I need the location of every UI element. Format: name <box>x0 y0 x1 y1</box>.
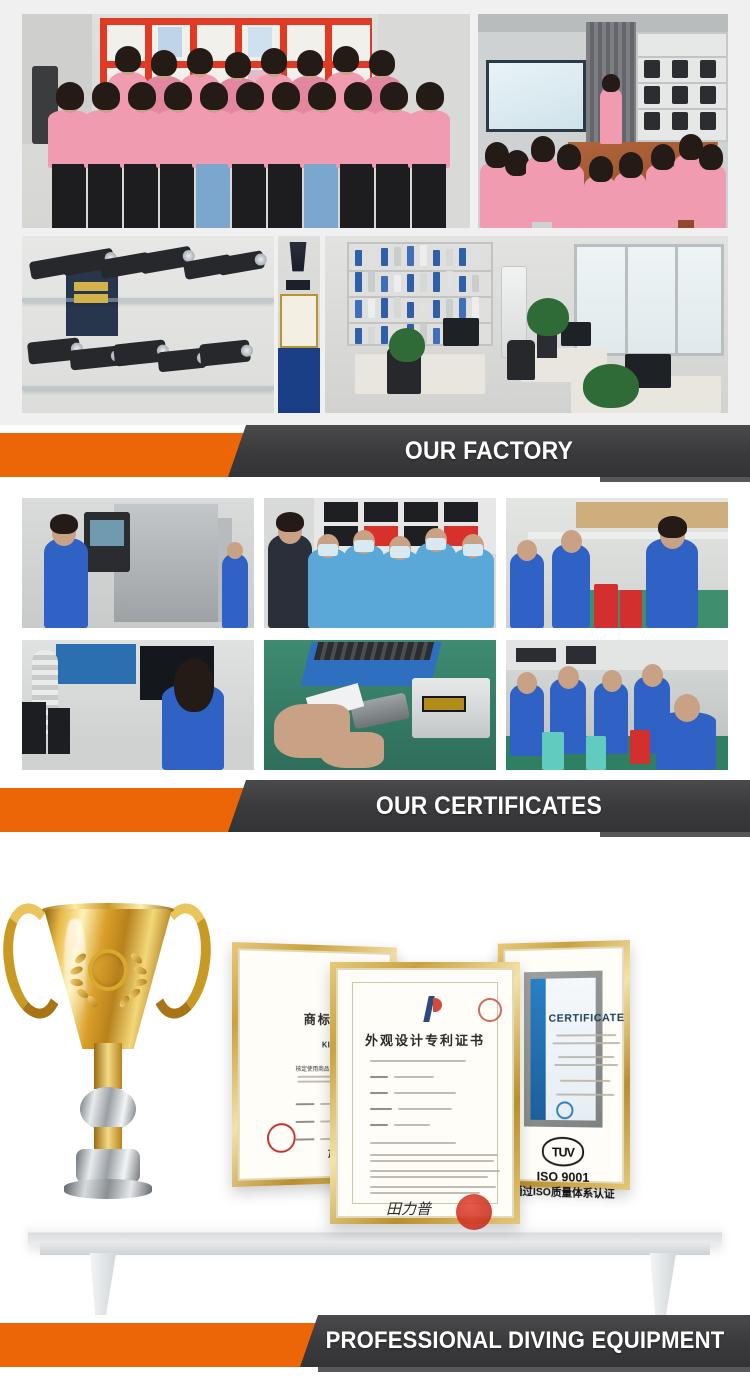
office-workspace-photo: Open plan office with staff at computers… <box>325 236 728 413</box>
banner-our-factory: OUR FACTORY <box>0 425 750 485</box>
gold-trophy <box>2 857 212 1257</box>
product-display-photo: Glass display shelves with black diving … <box>22 236 274 413</box>
laser-marking-photo: Operator running laser marking station <box>22 640 254 770</box>
banner-dark-shadow <box>600 477 750 482</box>
trophy-base-upper <box>76 1149 140 1183</box>
iso-certificate-word: CERTIFICATE <box>549 1012 597 1024</box>
cnc-machining-photo: Worker operating CNC machining centre <box>22 498 254 628</box>
company-intro-section: Company staff group photo in pink polo s… <box>0 0 750 425</box>
banner-professional-diving-equipment: PROFESSIONAL DIVING EQUIPMENT <box>0 1315 750 1375</box>
trophy-stem <box>94 1043 122 1089</box>
banner-title: OUR CERTIFICATES <box>249 780 729 832</box>
workshop-team-photo: Production team in blue coveralls and ma… <box>264 498 496 628</box>
trophy-base-lower <box>64 1179 152 1199</box>
banner-title: OUR FACTORY <box>249 425 729 477</box>
factory-gallery-section: Worker operating CNC machining centre <box>0 485 750 780</box>
patent-certificate-title: 外观设计专利证书 <box>340 1030 510 1049</box>
iso-subtitle-label: 通过ISO质量体系认证 <box>507 1183 620 1202</box>
banner-orange-bar <box>0 1323 322 1367</box>
team-group-photo: Company staff group photo in pink polo s… <box>22 14 470 228</box>
assembly-line-photo: Workers assembling products on the produ… <box>506 498 728 628</box>
shelf-bracket-left <box>90 1253 116 1315</box>
trophy-knob <box>80 1087 136 1131</box>
shelf-bracket-right <box>650 1253 676 1315</box>
design-patent-certificate: 外观设计专利证书 田力普 <box>330 962 520 1224</box>
waterproof-testing-photo: Hands testing flashlight body with DC po… <box>264 640 496 770</box>
laurel-wreath-icon <box>68 941 148 1015</box>
banner-title: PROFESSIONAL DIVING EQUIPMENT <box>318 1315 732 1367</box>
banner-dark-shadow <box>318 1367 750 1372</box>
banner-dark-shadow <box>600 832 750 837</box>
assembly-bench-photo: Row of workers at assembly benches <box>506 640 728 770</box>
certificates-section: 商标注册证 KINGWAY 核定使用商品第 11 类 许瑞表 <box>0 845 750 1315</box>
patent-signature: 田力普 <box>386 1198 431 1219</box>
awards-cabinet-photo: Trophy and framed award certificates cab… <box>278 236 320 413</box>
tuv-badge: TUV <box>542 1137 584 1167</box>
meeting-room-photo: Staff meeting around wooden table with p… <box>478 14 728 228</box>
banner-our-certificates: OUR CERTIFICATES <box>0 780 750 840</box>
